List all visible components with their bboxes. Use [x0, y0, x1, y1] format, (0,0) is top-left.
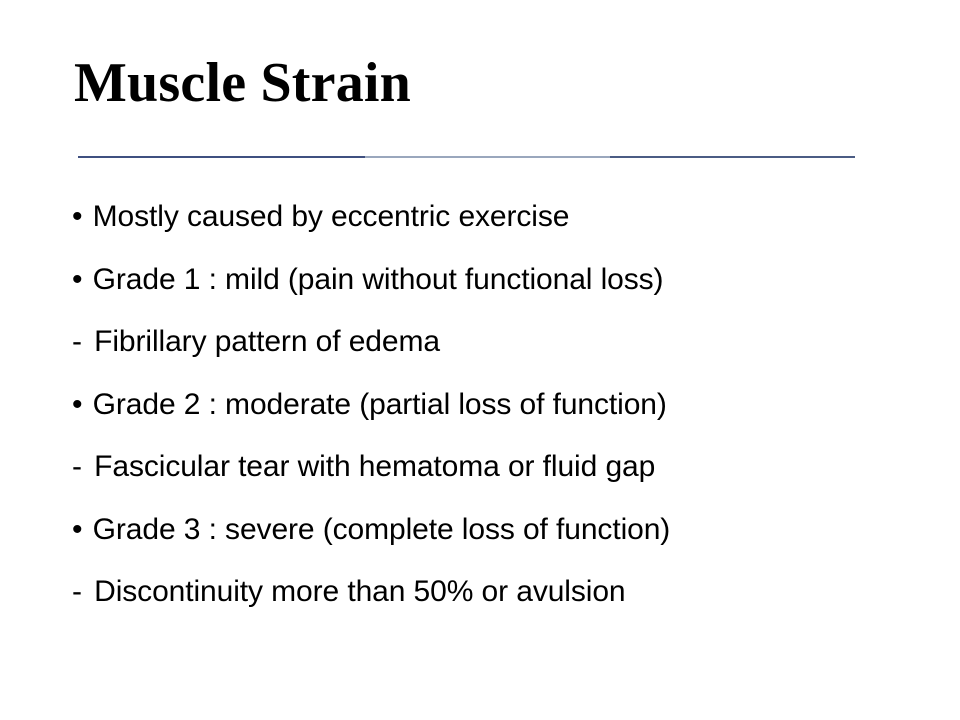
list-item-label: Fibrillary pattern of edema	[94, 325, 440, 358]
list-item-label: Grade 2 : moderate (partial loss of func…	[93, 388, 667, 421]
list-item-label: Mostly caused by eccentric exercise	[93, 200, 570, 233]
list-item-label: Grade 3 : severe (complete loss of funct…	[93, 513, 671, 546]
dash-marker-icon: -	[72, 575, 86, 608]
slide-canvas: Muscle Strain • Mostly caused by eccentr…	[0, 0, 960, 720]
list-item: • Mostly caused by eccentric exercise	[72, 186, 932, 249]
divider-segment-middle	[365, 156, 610, 158]
divider-segment-left	[78, 156, 365, 158]
page-title: Muscle Strain	[74, 52, 411, 114]
bullet-marker-icon: •	[72, 513, 84, 546]
list-item: - Fascicular tear with hematoma or fluid…	[72, 436, 932, 499]
list-item: • Grade 3 : severe (complete loss of fun…	[72, 499, 932, 562]
list-item: • Grade 1 : mild (pain without functiona…	[72, 249, 932, 312]
list-item-label: Fascicular tear with hematoma or fluid g…	[94, 450, 655, 483]
list-item: - Discontinuity more than 50% or avulsio…	[72, 561, 932, 624]
bullet-marker-icon: •	[72, 388, 84, 421]
list-item-label: Grade 1 : mild (pain without functional …	[93, 263, 664, 296]
dash-marker-icon: -	[72, 325, 86, 358]
title-divider	[78, 156, 855, 158]
slide-body: • Mostly caused by eccentric exercise • …	[72, 186, 932, 624]
bullet-marker-icon: •	[72, 200, 84, 233]
list-item: • Grade 2 : moderate (partial loss of fu…	[72, 374, 932, 437]
dash-marker-icon: -	[72, 450, 86, 483]
divider-segment-right	[610, 156, 855, 158]
bullet-marker-icon: •	[72, 263, 84, 296]
list-item: - Fibrillary pattern of edema	[72, 311, 932, 374]
list-item-label: Discontinuity more than 50% or avulsion	[94, 575, 625, 608]
